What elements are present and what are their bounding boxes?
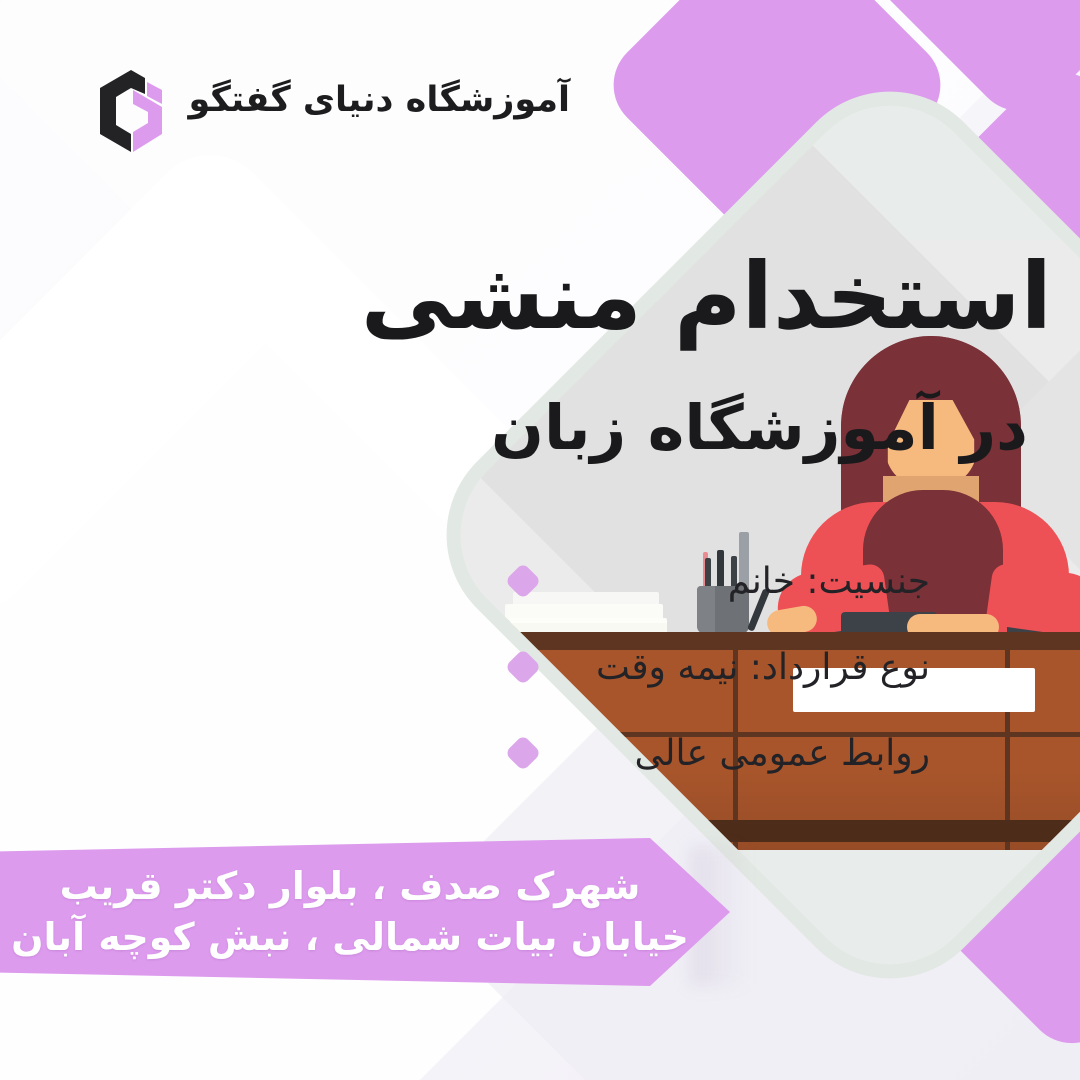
diamond-bullet-icon	[505, 735, 542, 772]
desk-base	[630, 820, 1080, 842]
list-item: جنسیت: خانم	[510, 538, 930, 624]
list-item: نوع قرارداد: نیمه وقت	[510, 624, 930, 710]
requirement-label: جنسیت: خانم	[728, 561, 930, 602]
diamond-bullet-icon	[505, 563, 542, 600]
brand-name: آموزشگاه دنیای گفتگو	[189, 80, 570, 120]
address-line-1: شهرک صدف ، بلوار دکتر قریب	[60, 861, 641, 912]
requirement-label: روابط عمومی عالی	[635, 733, 930, 774]
page-title: استخدام منشی	[361, 244, 1052, 350]
requirements-list: جنسیت: خانم نوع قرارداد: نیمه وقت روابط …	[510, 538, 930, 796]
page-subtitle: در آموزشگاه زبان	[491, 391, 1028, 465]
list-item: روابط عمومی عالی	[510, 710, 930, 796]
diamond-bullet-icon	[505, 649, 542, 686]
address-line-2: خیابان بیات شمالی ، نبش کوچه آبان	[11, 912, 689, 963]
job-ad-poster: آموزشگاه دنیای گفتگو استخدام منشی در آمو…	[0, 0, 1080, 1080]
address-banner: شهرک صدف ، بلوار دکتر قریب خیابان بیات ش…	[0, 838, 730, 986]
hexagon-c-logo-icon	[92, 68, 170, 154]
requirement-label: نوع قرارداد: نیمه وقت	[596, 647, 930, 688]
